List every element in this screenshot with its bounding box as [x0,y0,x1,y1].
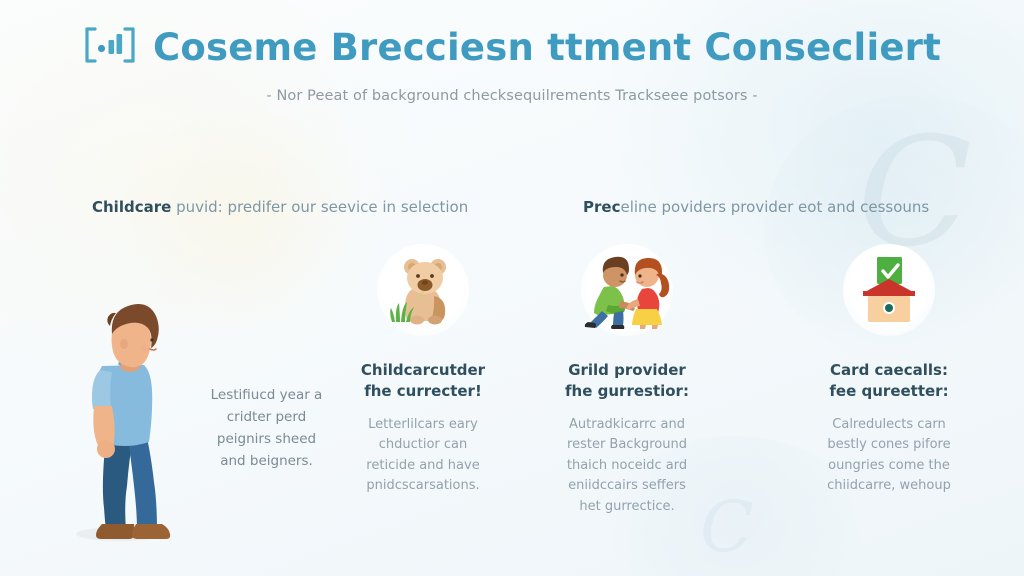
section-header-left-strong: Childcare [92,198,171,216]
teddy-bear-icon [377,244,469,336]
column-two-children: Grild provider fhe gurrestior: Autradkic… [534,244,720,517]
column-check-box: Card caecalls: fee qureetter: Calredulec… [796,244,982,497]
column-3-heading-line-1: fee qureetter: [796,381,982,402]
column-1-body-line-1: chductior can [330,435,516,456]
person-text: Lestifiucd year a cridter perd peignirs … [204,385,329,472]
column-2-body: Autradkicarrc and rester Background thai… [534,415,720,518]
page-title: Coseme Brecciesn ttment Consecliert [153,26,941,69]
column-3-body-line-0: Calredulects carn [796,415,982,436]
section-header-left-rest: puvid: predifer our seevice in selection [171,198,468,216]
title-row: Coseme Brecciesn ttment Consecliert [0,24,1024,71]
column-2-body-line-1: rester Background [534,435,720,456]
column-2-heading-line-1: fhe gurrestior: [534,381,720,402]
column-3-body-line-1: bestly cones pifore [796,435,982,456]
column-1-body-line-2: reticide and have [330,456,516,477]
column-1-heading-line-0: Childcarcutder [330,360,516,381]
column-1-heading-line-1: fhe currecter! [330,381,516,402]
column-2-heading: Grild provider fhe gurrestior: [534,360,720,403]
column-teddy-bear: Childcarcutder fhe currecter! Letterlilc… [330,244,516,497]
section-header-right-rest: eline poviders provider eot and cessouns [620,198,929,216]
two-children-icon [581,244,673,336]
column-2-body-line-2: thaich noceidc ard [534,456,720,477]
column-3-body-line-2: oungries come the [796,456,982,477]
person-block: Lestifiucd year a cridter perd peignirs … [62,300,322,545]
chart-badge-icon [83,24,137,71]
check-box-house-icon [843,244,935,336]
infographic-poster: C C Coseme Brecciesn ttment Consecliert … [0,0,1024,576]
section-header-right-strong: Prec [583,198,620,216]
column-2-body-line-0: Autradkicarrc and [534,415,720,436]
column-1-heading: Childcarcutder fhe currecter! [330,360,516,403]
column-1-body-line-3: pnidcscarsations. [330,476,516,497]
column-1-body-line-0: Letterlilcars eary [330,415,516,436]
column-3-heading: Card caecalls: fee qureetter: [796,360,982,403]
column-3-body: Calredulects carn bestly cones pifore ou… [796,415,982,497]
column-2-body-line-4: het gurrectice. [534,497,720,518]
header: Coseme Brecciesn ttment Consecliert - No… [0,24,1024,104]
column-3-body-line-3: chiidcarre, wehoup [796,476,982,497]
column-3-heading-line-0: Card caecalls: [796,360,982,381]
column-2-body-line-3: eniidccairs seffers [534,476,720,497]
page-subtitle: - Nor Peeat of background checksequilrem… [0,88,1024,104]
standing-boy-illustration [62,532,182,549]
section-header-right: Preceline poviders provider eot and cess… [583,198,929,216]
column-1-body: Letterlilcars eary chductior can reticid… [330,415,516,497]
column-2-heading-line-0: Grild provider [534,360,720,381]
section-header-left: Childcare puvid: predifer our seevice in… [92,198,468,216]
